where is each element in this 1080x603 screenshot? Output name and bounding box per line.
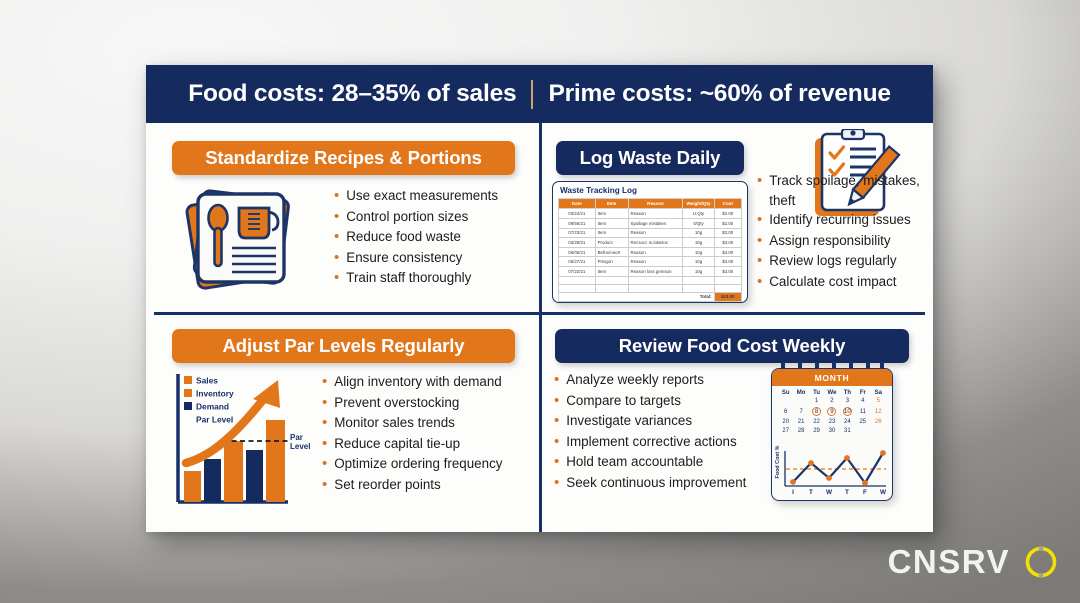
calendar-day-num: 8 xyxy=(812,407,821,416)
calendar-weekday-row: Su Mo Tu We Th Fr Sa xyxy=(778,389,886,397)
bullet-text: Monitor sales trends xyxy=(334,413,455,434)
table-row-blank xyxy=(559,284,742,292)
list-item: •Use exact measurements xyxy=(334,186,498,207)
bullet-list-standardize-recipes: •Use exact measurements •Control portion… xyxy=(334,186,498,289)
cell-weight: 10g xyxy=(683,266,714,276)
calendar-day[interactable]: 7 xyxy=(793,406,808,418)
calendar-day[interactable]: 24 xyxy=(840,418,855,427)
cell-date: 09/56/21 xyxy=(559,218,596,228)
cell-weight: 10g xyxy=(683,247,714,257)
bullet-text: Review logs regularly xyxy=(769,251,896,271)
bullet-dot-icon: • xyxy=(554,411,559,432)
bar-chart-growth-icon: Sales Inventory Demand Par Level Par Lev… xyxy=(170,370,318,520)
infographic-canvas: Food costs: 28–35% of sales Prime costs:… xyxy=(0,0,1080,603)
svg-text:W: W xyxy=(880,489,887,496)
bullet-dot-icon: • xyxy=(334,248,339,269)
bullet-dot-icon: • xyxy=(757,272,762,293)
col-cost: Cost xyxy=(714,199,741,209)
cell-reason: Reason loss gemson xyxy=(628,266,683,276)
header-banner: Food costs: 28–35% of sales Prime costs:… xyxy=(146,65,933,123)
cell-weight: 10g xyxy=(683,228,714,238)
svg-text:Demand: Demand xyxy=(196,402,229,412)
cell-cost: $3.00 xyxy=(714,266,741,276)
list-item: •Investigate variances xyxy=(554,411,746,432)
cell-weight: U.Qty xyxy=(683,209,714,219)
bullet-text: Use exact measurements xyxy=(346,186,498,207)
list-item: •Align inventory with demand xyxy=(322,372,502,393)
bullet-dot-icon: • xyxy=(322,372,327,393)
cell-date: 03/29/21 xyxy=(559,238,596,248)
calendar-day[interactable]: 25 xyxy=(855,418,870,427)
calendar-week-row: 20 21 22 23 24 25 26 xyxy=(778,418,886,427)
list-item: •Identify recurring issues xyxy=(757,210,933,231)
calendar-day[interactable]: 31 xyxy=(840,426,855,435)
cell-cost: $3.00 xyxy=(714,238,741,248)
bullet-dot-icon: • xyxy=(322,413,327,434)
bullet-dot-icon: • xyxy=(334,227,339,248)
recipe-cards-icon xyxy=(176,178,306,303)
cell-date: 07/22/21 xyxy=(559,266,596,276)
bullet-list-log-waste-daily: •Track spoilage, mistakes, theft •Identi… xyxy=(757,171,933,292)
bullet-text: Ensure consistency xyxy=(346,248,462,269)
cell-reason: Reason xyxy=(628,247,683,257)
calendar-week-row: 6 7 8 9 10 11 12 xyxy=(778,406,886,418)
bullet-list-review-food-cost: •Analyze weekly reports •Compare to targ… xyxy=(554,370,746,493)
quadrant-adjust-par-levels: Adjust Par Levels Regularly Sales Invent… xyxy=(146,313,540,532)
calendar-day[interactable]: 5 xyxy=(871,397,886,406)
bullet-dot-icon: • xyxy=(554,473,559,494)
bullet-dot-icon: • xyxy=(554,432,559,453)
calendar-day-num: 10 xyxy=(843,407,852,416)
calendar-day-circled[interactable]: 8 xyxy=(809,406,824,418)
cell-reason: Reason xyxy=(628,257,683,267)
svg-text:Sales: Sales xyxy=(196,376,218,386)
svg-text:Level: Level xyxy=(290,442,310,451)
cell-date: 03/24/21 xyxy=(559,209,596,219)
cell-weight: 10g xyxy=(683,238,714,248)
bullet-dot-icon: • xyxy=(322,475,327,496)
cell-item: Product xyxy=(595,238,628,248)
calendar-day[interactable] xyxy=(855,426,870,435)
calendar-day[interactable]: 22 xyxy=(809,418,824,427)
svg-text:W: W xyxy=(826,489,833,496)
cell-item: Pringon xyxy=(595,257,628,267)
list-item: •Ensure consistency xyxy=(334,248,498,269)
bullet-text: Seek continuous improvement xyxy=(566,473,746,494)
calendar-day[interactable]: 23 xyxy=(824,418,839,427)
cell-item: Item xyxy=(595,228,628,238)
list-item: •Control portion sizes xyxy=(334,207,498,228)
calendar-day[interactable]: 2 xyxy=(824,397,839,406)
cell-cost: $2.00 xyxy=(714,209,741,219)
calendar-day[interactable]: 28 xyxy=(793,426,808,435)
weekday-sa: Sa xyxy=(871,389,886,397)
bullet-dot-icon: • xyxy=(554,452,559,473)
calendar-month-label: MONTH xyxy=(772,369,892,386)
bullet-list-adjust-par-levels: •Align inventory with demand •Prevent ov… xyxy=(322,372,502,495)
bullet-text: Assign responsibility xyxy=(769,231,890,251)
total-label: Total: xyxy=(559,292,715,302)
bullet-dot-icon: • xyxy=(322,434,327,455)
list-item: •Hold team accountable xyxy=(554,452,746,473)
table-row: 03/29/21 Product Recsocc m.lotartox 10g … xyxy=(559,238,742,248)
bullet-dot-icon: • xyxy=(334,207,339,228)
quadrant-standardize-recipes: Standardize Recipes & Portions xyxy=(146,123,540,313)
calendar-body: MONTH Su Mo Tu We Th Fr xyxy=(771,368,893,501)
calendar-day[interactable]: 30 xyxy=(824,426,839,435)
list-item: •Reduce capital tie-up xyxy=(322,434,502,455)
calendar-day[interactable]: 4 xyxy=(855,397,870,406)
table-header-row: Date Item Reason Weight/Qty Cost xyxy=(559,199,742,209)
calendar-day[interactable]: 29 xyxy=(809,426,824,435)
svg-text:I: I xyxy=(792,489,794,496)
table-row: 06/05/21 Befrod-wort Reason 10g $3.00 xyxy=(559,247,742,257)
bullet-text: Compare to targets xyxy=(566,391,681,412)
list-item: •Set reorder points xyxy=(322,475,502,496)
bullet-dot-icon: • xyxy=(757,231,762,252)
list-item: •Analyze weekly reports xyxy=(554,370,746,391)
bullet-text: Prevent overstocking xyxy=(334,393,459,414)
list-item: •Implement corrective actions xyxy=(554,432,746,453)
svg-text:Inventory: Inventory xyxy=(196,389,234,399)
list-item: •Optimize ordering frequency xyxy=(322,454,502,475)
cell-date: 05/27/21 xyxy=(559,257,596,267)
bullet-text: Train staff thoroughly xyxy=(346,268,471,289)
quadrant-review-food-cost: Review Food Cost Weekly •Analyze weekly … xyxy=(540,313,933,532)
bullet-dot-icon: • xyxy=(334,268,339,289)
cell-date: 06/05/21 xyxy=(559,247,596,257)
list-item: •Review logs regularly xyxy=(757,251,933,272)
bullet-dot-icon: • xyxy=(334,186,339,207)
svg-text:Par Level: Par Level xyxy=(196,415,233,425)
bullet-text: Implement corrective actions xyxy=(566,432,736,453)
quadrant-log-waste-daily: Log Waste Daily Waste Tracking Log Date … xyxy=(540,123,933,313)
weekday-tu: Tu xyxy=(809,389,824,397)
table-row: 07/22/21 Item Reason loss gemson 10g $3.… xyxy=(559,266,742,276)
table-row: 05/27/21 Pringon Reason 10g $3.00 xyxy=(559,257,742,267)
cell-reason: Recsocc m.lotartox xyxy=(628,238,683,248)
calendar-week-row: 1 2 3 4 5 xyxy=(778,397,886,406)
cell-weight: 10g xyxy=(683,257,714,267)
calendar-day[interactable] xyxy=(871,426,886,435)
calendar-day-circled[interactable]: 9 xyxy=(824,406,839,418)
waste-table-title: Waste Tracking Log xyxy=(558,186,742,198)
weekday-su: Su xyxy=(778,389,793,397)
weekday-th: Th xyxy=(840,389,855,397)
bullet-text: Track spoilage, mistakes, theft xyxy=(769,171,933,210)
list-item: •Reduce food waste xyxy=(334,227,498,248)
bullet-dot-icon: • xyxy=(757,251,762,272)
calendar-day[interactable]: 20 xyxy=(778,418,793,427)
list-item: •Assign responsibility xyxy=(757,231,933,252)
calendar-icon: MONTH Su Mo Tu We Th Fr xyxy=(771,361,893,501)
quadrant-title-log-waste-daily: Log Waste Daily xyxy=(556,141,744,175)
calendar-day[interactable]: 21 xyxy=(793,418,808,427)
quadrant-title-adjust-par-levels: Adjust Par Levels Regularly xyxy=(172,329,515,363)
split-ring-icon xyxy=(1024,545,1058,579)
cell-item: Item xyxy=(595,209,628,219)
svg-text:Par: Par xyxy=(290,433,303,442)
bullet-text: Investigate variances xyxy=(566,411,692,432)
bullet-dot-icon: • xyxy=(322,393,327,414)
col-reason: Reason xyxy=(628,199,683,209)
list-item: •Monitor sales trends xyxy=(322,413,502,434)
cell-cost: $3.00 xyxy=(714,257,741,267)
cell-reason: Reason xyxy=(628,209,683,219)
list-item: •Compare to targets xyxy=(554,391,746,412)
table-row-blank xyxy=(559,276,742,284)
col-date: Date xyxy=(559,199,596,209)
calendar-day[interactable]: 6 xyxy=(778,406,793,418)
quadrant-title-review-food-cost: Review Food Cost Weekly xyxy=(555,329,909,363)
table-row: 07/23/21 Item Reason 10g $3.00 xyxy=(559,228,742,238)
cell-item: Befrod-wort xyxy=(595,247,628,257)
weekday-fr: Fr xyxy=(855,389,870,397)
banner-left-text: Food costs: 28–35% of sales xyxy=(188,80,516,108)
cell-cost: $3.00 xyxy=(714,247,741,257)
calendar-day[interactable]: 1 xyxy=(809,397,824,406)
total-value: $23.00 xyxy=(714,292,741,302)
waste-tracking-log-table: Waste Tracking Log Date Item Reason Weig… xyxy=(552,181,748,303)
cnsrv-logo: CNSRV xyxy=(888,543,1058,581)
svg-text:F: F xyxy=(863,489,867,496)
cell-weight: 0/Qty xyxy=(683,218,714,228)
col-weight-qty: Weight/Qty xyxy=(683,199,714,209)
bullet-text: Reduce food waste xyxy=(346,227,461,248)
calendar-grid: Su Mo Tu We Th Fr Sa xyxy=(772,386,892,435)
bullet-text: Reduce capital tie-up xyxy=(334,434,460,455)
bullet-text: Hold team accountable xyxy=(566,452,703,473)
bullet-dot-icon: • xyxy=(554,370,559,391)
calendar-day-circled[interactable]: 10 xyxy=(840,406,855,418)
bullet-text: Optimize ordering frequency xyxy=(334,454,502,475)
bullet-dot-icon: • xyxy=(757,171,762,192)
list-item: •Prevent overstocking xyxy=(322,393,502,414)
calendar-day[interactable]: 26 xyxy=(871,418,886,427)
table-total-row: Total: $23.00 xyxy=(559,292,742,302)
calendar-day[interactable] xyxy=(793,397,808,406)
cell-item: Item xyxy=(595,266,628,276)
bullet-text: Control portion sizes xyxy=(346,207,468,228)
bullet-text: Calculate cost impact xyxy=(769,272,896,292)
col-item: Item xyxy=(595,199,628,209)
bullet-text: Analyze weekly reports xyxy=(566,370,704,391)
table-row: 09/56/21 Item Spoilage mistakes 0/Qty $2… xyxy=(559,218,742,228)
calendar-day[interactable]: 3 xyxy=(840,397,855,406)
calendar-day-num: 9 xyxy=(827,407,836,416)
svg-text:T: T xyxy=(845,489,849,496)
cell-reason: Reason xyxy=(628,228,683,238)
list-item: •Train staff thoroughly xyxy=(334,268,498,289)
calendar-day[interactable]: 27 xyxy=(778,426,793,435)
bullet-text: Align inventory with demand xyxy=(334,372,501,393)
cell-date: 07/23/21 xyxy=(559,228,596,238)
logo-text: CNSRV xyxy=(888,543,1010,581)
bullet-dot-icon: • xyxy=(554,391,559,412)
svg-text:T: T xyxy=(809,489,813,496)
calendar-week-row: 27 28 29 30 31 xyxy=(778,426,886,435)
cell-cost: $3.00 xyxy=(714,228,741,238)
cell-cost: $2.00 xyxy=(714,218,741,228)
list-item: •Track spoilage, mistakes, theft xyxy=(757,171,933,210)
bullet-dot-icon: • xyxy=(757,210,762,231)
list-item: •Seek continuous improvement xyxy=(554,473,746,494)
food-cost-weekly-sparkline: I T W T F W xyxy=(776,449,890,496)
bullet-dot-icon: • xyxy=(322,454,327,475)
banner-divider xyxy=(531,80,533,109)
bullet-text: Identify recurring issues xyxy=(769,210,910,230)
calendar-day[interactable]: 11 xyxy=(855,406,870,418)
banner-right-text: Prime costs: ~60% of revenue xyxy=(548,80,890,108)
calendar-day[interactable] xyxy=(778,397,793,406)
table-row: 03/24/21 Item Reason U.Qty $2.00 xyxy=(559,209,742,219)
quadrant-title-standardize-recipes: Standardize Recipes & Portions xyxy=(172,141,515,175)
calendar-day[interactable]: 12 xyxy=(871,406,886,418)
cell-reason: Spoilage mistakes xyxy=(628,218,683,228)
infographic-card: Food costs: 28–35% of sales Prime costs:… xyxy=(146,65,933,532)
cell-item: Item xyxy=(595,218,628,228)
weekday-mo: Mo xyxy=(793,389,808,397)
weekday-we: We xyxy=(824,389,839,397)
bullet-text: Set reorder points xyxy=(334,475,440,496)
list-item: •Calculate cost impact xyxy=(757,272,933,293)
